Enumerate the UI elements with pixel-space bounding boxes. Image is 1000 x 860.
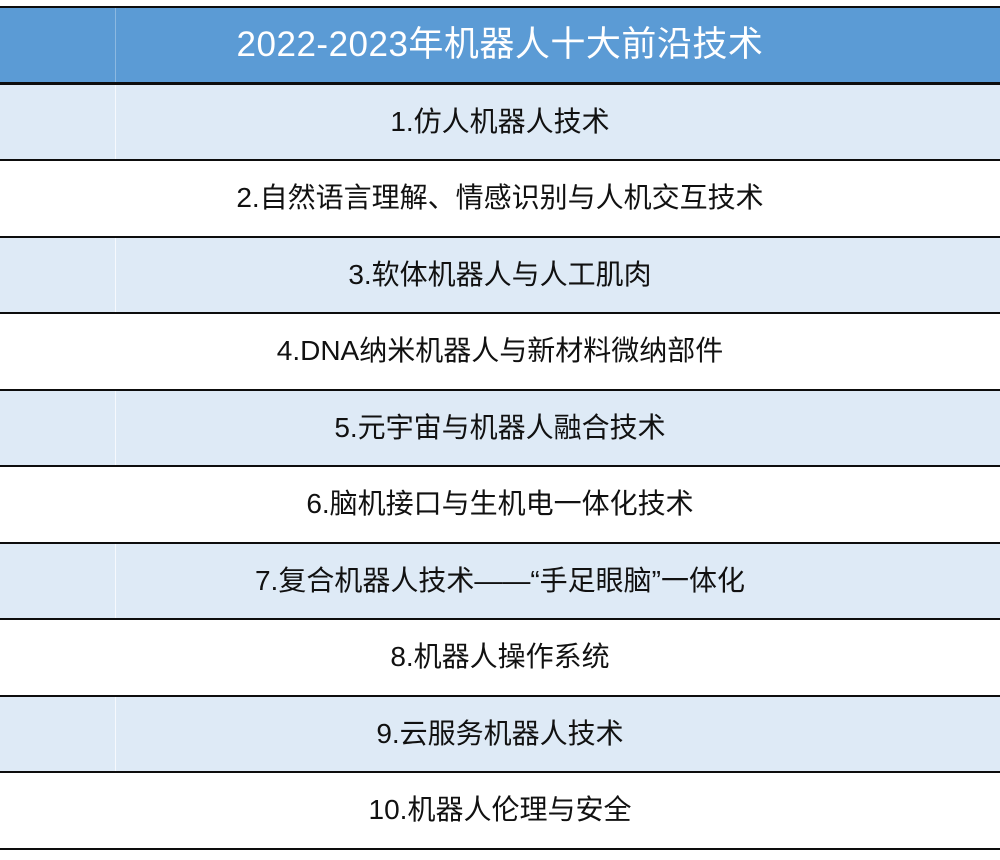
- table-cell-item-5: 5.元宇宙与机器人融合技术: [0, 390, 1000, 467]
- item-label-3: 3.软体机器人与人工肌肉: [0, 259, 1000, 291]
- table-header-cell: 2022-2023年机器人十大前沿技术: [0, 7, 1000, 84]
- item-label-4: 4.DNA纳米机器人与新材料微纳部件: [0, 335, 1000, 367]
- table-title: 2022-2023年机器人十大前沿技术: [0, 26, 1000, 65]
- item-label-9: 9.云服务机器人技术: [0, 718, 1000, 750]
- table-cell-item-3: 3.软体机器人与人工肌肉: [0, 237, 1000, 314]
- table-row: 2.自然语言理解、情感识别与人机交互技术: [0, 160, 1000, 237]
- table-cell-item-4: 4.DNA纳米机器人与新材料微纳部件: [0, 313, 1000, 390]
- table-row: 4.DNA纳米机器人与新材料微纳部件: [0, 313, 1000, 390]
- table-row: 7.复合机器人技术——“手足眼脑”一体化: [0, 543, 1000, 620]
- top-ten-technologies-table-container: 2022-2023年机器人十大前沿技术 1.仿人机器人技术 2.自然语言理解、情…: [0, 6, 1000, 850]
- table-row: 3.软体机器人与人工肌肉: [0, 237, 1000, 314]
- item-label-5: 5.元宇宙与机器人融合技术: [0, 412, 1000, 444]
- table-cell-item-7: 7.复合机器人技术——“手足眼脑”一体化: [0, 543, 1000, 620]
- table-row: 5.元宇宙与机器人融合技术: [0, 390, 1000, 467]
- table-cell-item-10: 10.机器人伦理与安全: [0, 772, 1000, 849]
- table-row: 9.云服务机器人技术: [0, 696, 1000, 773]
- item-label-8: 8.机器人操作系统: [0, 641, 1000, 673]
- item-label-6: 6.脑机接口与生机电一体化技术: [0, 488, 1000, 520]
- table-cell-item-9: 9.云服务机器人技术: [0, 696, 1000, 773]
- table-row: 10.机器人伦理与安全: [0, 772, 1000, 849]
- top-ten-technologies-table: 2022-2023年机器人十大前沿技术 1.仿人机器人技术 2.自然语言理解、情…: [0, 6, 1000, 850]
- table-cell-item-1: 1.仿人机器人技术: [0, 84, 1000, 161]
- table-body: 2022-2023年机器人十大前沿技术 1.仿人机器人技术 2.自然语言理解、情…: [0, 7, 1000, 849]
- item-label-10: 10.机器人伦理与安全: [0, 794, 1000, 826]
- table-row: 8.机器人操作系统: [0, 619, 1000, 696]
- table-cell-item-8: 8.机器人操作系统: [0, 619, 1000, 696]
- item-label-1: 1.仿人机器人技术: [0, 106, 1000, 138]
- item-label-7: 7.复合机器人技术——“手足眼脑”一体化: [0, 565, 1000, 597]
- table-header-row: 2022-2023年机器人十大前沿技术: [0, 7, 1000, 84]
- item-label-2: 2.自然语言理解、情感识别与人机交互技术: [0, 182, 1000, 214]
- table-row: 6.脑机接口与生机电一体化技术: [0, 466, 1000, 543]
- table-cell-item-2: 2.自然语言理解、情感识别与人机交互技术: [0, 160, 1000, 237]
- table-cell-item-6: 6.脑机接口与生机电一体化技术: [0, 466, 1000, 543]
- table-row: 1.仿人机器人技术: [0, 84, 1000, 161]
